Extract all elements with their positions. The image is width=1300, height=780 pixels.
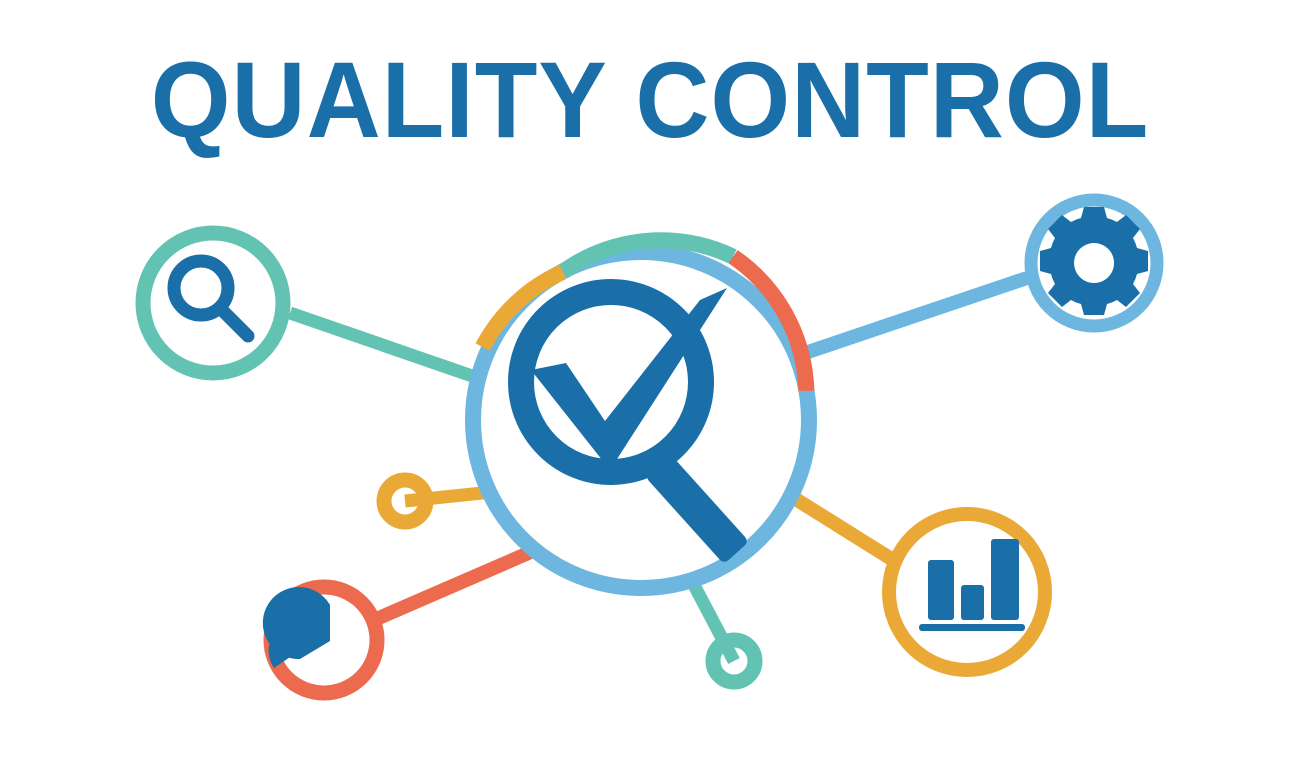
node-process-settings[interactable] [1028,197,1160,329]
connector-hub-to-analysis [365,548,540,624]
infographic-canvas: QUALITY CONTROL [0,0,1300,780]
connector-hub-to-reporting [794,498,893,560]
quality-check-hub[interactable] [469,240,813,592]
node-inspection[interactable] [141,231,285,375]
connector-hub-to-inspection [290,313,478,378]
connector-hub-to-process-settings [808,278,1027,352]
quality-control-diagram [0,0,1300,780]
node-analysis[interactable] [263,584,380,696]
node-reporting[interactable] [888,513,1046,671]
